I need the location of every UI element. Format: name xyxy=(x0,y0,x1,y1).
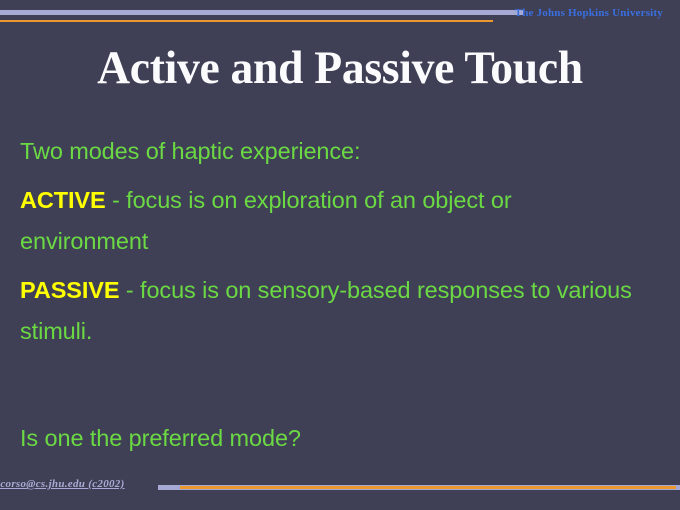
body-spacer xyxy=(20,360,642,418)
slide-body: Two modes of haptic experience: ACTIVE -… xyxy=(20,131,642,467)
header-lavender-rule xyxy=(0,10,523,15)
passive-paragraph: PASSIVE - focus is on sensory-based resp… xyxy=(20,270,642,352)
active-paragraph: ACTIVE - focus is on exploration of an o… xyxy=(20,180,642,262)
passive-keyword: PASSIVE xyxy=(20,277,119,303)
question-text: Is one the preferred mode? xyxy=(20,425,301,451)
footer-orange-rule xyxy=(180,486,676,489)
slide-title: Active and Passive Touch xyxy=(10,43,670,94)
header-orange-rule xyxy=(0,20,493,22)
intro-paragraph: Two modes of haptic experience: xyxy=(20,131,642,172)
intro-text: Two modes of haptic experience: xyxy=(20,138,360,164)
active-keyword: ACTIVE xyxy=(20,187,106,213)
university-label: The Johns Hopkins University xyxy=(515,7,663,19)
footer-email-link[interactable]: jcorso@cs.jhu.edu (c2002) xyxy=(0,478,125,490)
question-paragraph: Is one the preferred mode? xyxy=(20,418,642,459)
presentation-slide: The Johns Hopkins University Active and … xyxy=(0,0,680,510)
